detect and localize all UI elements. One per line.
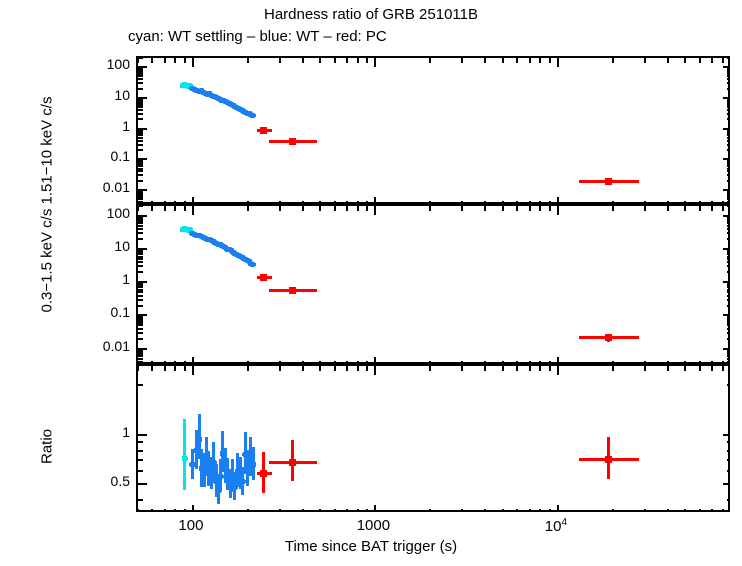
x-tick	[302, 366, 304, 371]
x-tick	[138, 366, 139, 371]
x-tick	[279, 361, 281, 362]
x-tick	[346, 201, 348, 202]
x-tick	[644, 206, 646, 211]
x-error-bar	[182, 457, 188, 460]
y-tick	[727, 355, 728, 357]
x-tick	[374, 197, 376, 202]
y-tick	[723, 189, 728, 191]
x-tick	[549, 206, 551, 211]
x-tick	[247, 206, 249, 211]
y-tick	[727, 291, 728, 293]
y-tick-label: 100	[82, 56, 130, 72]
x-tick	[502, 366, 504, 371]
x-tick	[711, 206, 713, 211]
x-tick	[612, 366, 614, 371]
y-tick	[727, 134, 728, 136]
y-tick	[727, 132, 728, 134]
y-tick	[727, 198, 728, 200]
y-tick	[727, 253, 728, 255]
x-tick	[334, 206, 336, 211]
x-tick	[539, 201, 541, 202]
y-tick	[727, 137, 728, 139]
y-tick	[138, 170, 143, 172]
x-tick	[529, 206, 531, 211]
x-tick	[461, 361, 463, 362]
y-tick	[727, 82, 728, 84]
x-tick	[612, 206, 614, 211]
x-tick	[192, 58, 194, 67]
x-tick	[366, 58, 368, 63]
plot-area-ratio	[138, 366, 728, 510]
x-tick	[684, 206, 686, 211]
y-tick	[138, 261, 143, 263]
x-tick	[164, 201, 166, 202]
y-tick	[727, 113, 728, 115]
y-tick	[138, 251, 143, 253]
y-tick	[727, 174, 728, 176]
x-tick	[366, 206, 368, 211]
x-tick	[374, 505, 376, 510]
y-tick	[138, 291, 143, 293]
y-tick	[138, 253, 143, 255]
y-tick	[138, 281, 147, 283]
x-tick	[174, 201, 176, 202]
y-tick	[727, 285, 728, 287]
y-tick	[138, 97, 147, 99]
y-tick	[727, 168, 728, 170]
y-tick	[138, 113, 143, 115]
x-tick	[711, 509, 713, 510]
panel-hard-band	[136, 56, 730, 204]
y-tick	[727, 251, 728, 253]
x-tick	[279, 58, 281, 63]
y-tick	[138, 320, 143, 322]
x-tick	[722, 201, 724, 202]
x-tick	[346, 509, 348, 510]
y-tick-label: 0.1	[82, 304, 130, 320]
x-tick	[557, 197, 559, 202]
y-tick-label: 0.1	[82, 148, 130, 164]
x-tick	[529, 58, 531, 63]
x-tick	[549, 201, 551, 202]
y-axis-label: 0.3−1.5 keV c/s 1.51−10 keV c/s	[39, 40, 56, 370]
y-tick	[138, 206, 143, 207]
x-tick	[684, 201, 686, 202]
y-tick	[138, 324, 143, 326]
x-tick	[484, 201, 486, 202]
y-tick	[727, 286, 728, 288]
y-tick	[723, 281, 728, 283]
x-tick	[184, 509, 186, 510]
y-tick	[727, 106, 728, 108]
y-tick-label: 1	[82, 271, 130, 287]
x-tick	[429, 361, 431, 362]
y-tick	[727, 328, 728, 330]
x-tick	[539, 361, 541, 362]
x-error-bar	[211, 461, 217, 464]
y-tick	[138, 149, 143, 151]
y-tick	[727, 256, 728, 258]
x-tick	[699, 206, 701, 211]
y-tick	[138, 338, 143, 340]
x-tick	[722, 206, 724, 211]
y-tick	[727, 289, 728, 291]
x-tick	[184, 361, 186, 362]
y-tick	[138, 194, 143, 196]
y-tick	[727, 295, 728, 297]
x-tick	[192, 357, 194, 362]
x-tick	[667, 509, 669, 510]
y-tick	[138, 163, 143, 165]
x-tick-label: 104	[545, 517, 567, 535]
y-tick	[138, 165, 143, 167]
x-tick	[644, 509, 646, 510]
x-tick	[516, 201, 518, 202]
y-tick	[727, 102, 728, 104]
x-tick	[549, 361, 551, 362]
y-tick	[138, 168, 143, 170]
y-tick	[727, 78, 728, 80]
x-tick	[366, 361, 368, 362]
panel-ratio	[136, 364, 730, 512]
x-tick	[644, 366, 646, 371]
x-tick	[334, 58, 336, 63]
y-tick	[727, 71, 728, 73]
y-tick	[138, 450, 143, 452]
x-tick-label: 100	[178, 517, 203, 534]
x-tick	[319, 366, 321, 371]
y-tick	[723, 314, 728, 316]
x-tick	[151, 509, 153, 510]
y-tick	[727, 222, 728, 224]
y-tick	[727, 358, 728, 360]
y-tick	[723, 97, 728, 99]
x-tick	[302, 201, 304, 202]
x-tick	[612, 58, 614, 63]
x-tick	[667, 366, 669, 371]
x-tick	[279, 509, 281, 510]
y-tick	[138, 225, 143, 227]
y-tick	[727, 170, 728, 172]
x-tick	[722, 58, 724, 63]
x-tick	[174, 366, 176, 371]
x-tick	[429, 366, 431, 371]
x-tick	[484, 361, 486, 362]
y-tick	[727, 361, 728, 362]
y-tick	[727, 299, 728, 301]
x-tick	[319, 361, 321, 362]
x-tick	[667, 201, 669, 202]
y-tick	[727, 104, 728, 106]
y-tick	[138, 238, 143, 240]
x-tick	[334, 201, 336, 202]
y-tick	[727, 118, 728, 120]
x-tick	[516, 509, 518, 510]
y-tick	[727, 73, 728, 75]
y-tick	[727, 88, 728, 90]
y-tick	[727, 180, 728, 182]
y-tick	[723, 434, 728, 436]
x-tick	[644, 201, 646, 202]
y-tick	[138, 198, 143, 200]
y-tick-label: 10	[82, 87, 130, 103]
x-tick	[429, 509, 431, 510]
x-tick	[357, 361, 359, 362]
x-tick	[502, 509, 504, 510]
x-axis-label: Time since BAT trigger (s)	[0, 538, 742, 555]
x-tick	[684, 366, 686, 371]
x-tick	[502, 361, 504, 362]
y-tick	[727, 201, 728, 202]
x-tick	[484, 58, 486, 63]
y-tick	[723, 128, 728, 130]
x-tick	[722, 509, 724, 510]
y-tick-label: 0.01	[82, 338, 130, 354]
y-tick	[138, 137, 143, 139]
x-tick	[174, 361, 176, 362]
x-tick	[711, 361, 713, 362]
y-tick	[138, 483, 147, 485]
x-tick	[374, 206, 376, 215]
y-tick	[138, 459, 143, 461]
x-tick	[612, 361, 614, 362]
y-tick	[138, 82, 143, 84]
x-tick	[192, 505, 194, 510]
x-tick	[279, 201, 281, 202]
chart-legend-subtitle: cyan: WT settling – blue: WT – red: PC	[128, 28, 387, 45]
plot-area-soft	[138, 206, 728, 362]
y-tick	[727, 196, 728, 198]
y-tick	[138, 258, 143, 260]
x-tick	[302, 206, 304, 211]
y-tick	[138, 106, 143, 108]
x-tick	[557, 206, 559, 215]
x-tick	[557, 366, 559, 375]
y-tick	[138, 286, 143, 288]
x-tick	[684, 58, 686, 63]
x-tick	[164, 366, 166, 371]
x-tick	[334, 366, 336, 371]
x-tick	[699, 361, 701, 362]
y-tick	[138, 499, 143, 501]
x-tick	[484, 366, 486, 371]
y-tick-label: 0.5	[82, 473, 130, 489]
y-tick	[138, 222, 143, 224]
y-tick	[138, 118, 143, 120]
y-tick	[727, 353, 728, 355]
x-tick	[164, 361, 166, 362]
y-tick	[727, 232, 728, 234]
x-tick	[192, 206, 194, 215]
x-tick	[667, 58, 669, 63]
y-tick	[138, 128, 147, 130]
y-tick	[727, 140, 728, 142]
x-tick	[461, 366, 463, 371]
y-tick	[138, 285, 143, 287]
x-tick	[302, 509, 304, 510]
y-tick	[138, 228, 143, 230]
x-tick	[711, 366, 713, 371]
x-tick	[346, 366, 348, 371]
x-tick	[164, 509, 166, 510]
y-tick	[727, 261, 728, 263]
y-tick	[138, 361, 143, 362]
x-tick	[151, 366, 153, 371]
y-tick	[727, 384, 728, 386]
x-tick	[502, 206, 504, 211]
x-tick	[484, 206, 486, 211]
x-tick	[151, 58, 153, 63]
x-tick	[174, 509, 176, 510]
x-tick	[549, 58, 551, 63]
x-tick	[699, 509, 701, 510]
x-error-bar	[196, 438, 202, 441]
x-tick	[539, 509, 541, 510]
x-tick	[374, 366, 376, 375]
y-tick	[727, 318, 728, 320]
y-tick	[138, 358, 143, 360]
y-tick	[727, 305, 728, 307]
x-tick	[164, 206, 166, 211]
y-tick	[723, 158, 728, 160]
x-tick	[461, 509, 463, 510]
y-tick	[138, 299, 143, 301]
y-tick	[727, 206, 728, 207]
x-tick	[461, 206, 463, 211]
x-tick	[247, 58, 249, 63]
x-tick	[247, 366, 249, 371]
y-tick	[138, 470, 143, 472]
x-tick	[557, 505, 559, 510]
y-tick	[727, 320, 728, 322]
y-tick	[138, 78, 143, 80]
x-tick	[346, 361, 348, 362]
y-tick	[723, 483, 728, 485]
marker	[289, 138, 296, 145]
x-tick	[461, 201, 463, 202]
marker	[289, 459, 296, 466]
y-tick	[723, 66, 728, 68]
marker	[260, 470, 267, 477]
x-tick	[529, 361, 531, 362]
x-tick	[516, 366, 518, 371]
y-tick	[138, 384, 143, 386]
y-tick	[138, 66, 147, 68]
x-tick	[247, 361, 249, 362]
plot-area-hard	[138, 58, 728, 202]
x-error-bar	[250, 263, 256, 266]
y-tick	[138, 189, 147, 191]
x-tick	[302, 361, 304, 362]
chart-title: Hardness ratio of GRB 251011B	[0, 6, 742, 23]
x-tick	[319, 201, 321, 202]
x-tick	[529, 509, 531, 510]
y-tick	[727, 165, 728, 167]
x-tick	[374, 58, 376, 67]
x-tick	[192, 366, 194, 375]
y-tick	[138, 88, 143, 90]
y-tick	[727, 265, 728, 267]
y-tick	[727, 225, 728, 227]
ratio-axis-label: Ratio	[39, 392, 56, 502]
y-tick	[138, 265, 143, 267]
x-tick	[684, 361, 686, 362]
y-tick	[727, 258, 728, 260]
x-tick	[184, 366, 186, 371]
y-tick-label: 10	[82, 238, 130, 254]
x-tick	[151, 361, 153, 362]
y-tick	[138, 232, 143, 234]
x-tick	[192, 197, 194, 202]
y-tick	[138, 144, 143, 146]
y-tick	[727, 75, 728, 77]
x-tick	[279, 206, 281, 211]
x-tick	[699, 58, 701, 63]
x-tick	[429, 58, 431, 63]
x-tick	[612, 509, 614, 510]
x-tick	[247, 509, 249, 510]
y-tick	[138, 295, 143, 297]
y-tick	[138, 58, 143, 59]
x-tick	[151, 201, 153, 202]
y-tick	[727, 58, 728, 59]
y-tick	[138, 322, 143, 324]
x-tick	[529, 366, 531, 371]
x-tick	[319, 509, 321, 510]
y-tick	[727, 324, 728, 326]
x-tick	[184, 58, 186, 63]
y-tick	[727, 144, 728, 146]
y-tick	[138, 102, 143, 104]
y-tick	[138, 196, 143, 198]
x-tick	[357, 201, 359, 202]
y-tick	[138, 332, 143, 334]
y-tick	[727, 459, 728, 461]
y-tick	[727, 194, 728, 196]
x-tick	[429, 201, 431, 202]
x-tick	[346, 58, 348, 63]
y-tick	[138, 201, 143, 202]
marker	[260, 127, 267, 134]
x-tick	[279, 366, 281, 371]
x-tick	[334, 509, 336, 510]
y-tick	[723, 348, 728, 350]
y-tick	[138, 434, 147, 436]
y-tick	[138, 220, 143, 222]
y-tick	[138, 140, 143, 142]
y-tick	[723, 215, 728, 217]
y-tick	[723, 248, 728, 250]
x-tick	[699, 366, 701, 371]
x-tick	[539, 206, 541, 211]
y-tick-label: 0.01	[82, 179, 130, 195]
x-tick	[644, 361, 646, 362]
y-tick	[727, 338, 728, 340]
x-tick	[516, 206, 518, 211]
x-tick	[711, 201, 713, 202]
x-tick	[549, 509, 551, 510]
y-tick	[138, 355, 143, 357]
marker	[260, 274, 267, 281]
y-tick	[138, 158, 147, 160]
x-tick	[684, 509, 686, 510]
marker	[605, 456, 612, 463]
x-tick	[302, 58, 304, 63]
x-tick	[667, 361, 669, 362]
x-tick	[334, 361, 336, 362]
y-tick	[727, 228, 728, 230]
y-tick	[138, 289, 143, 291]
